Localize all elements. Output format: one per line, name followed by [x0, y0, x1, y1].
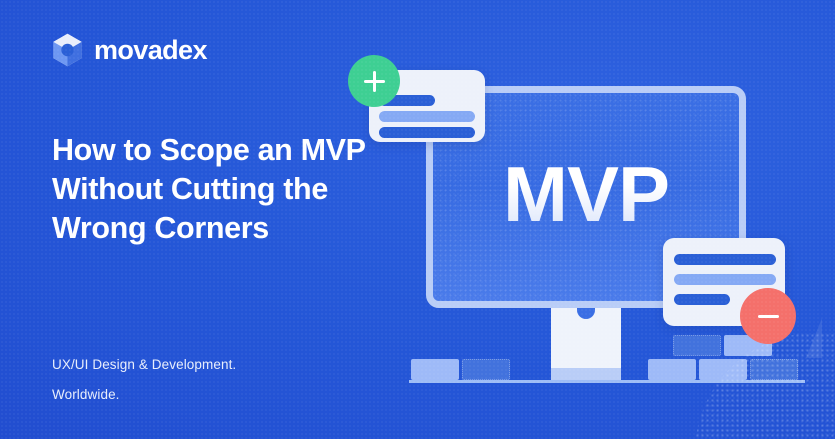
add-badge: [348, 55, 400, 107]
brand-logo[interactable]: movadex: [52, 33, 207, 67]
card-bar: [674, 274, 776, 285]
brick: [462, 359, 510, 380]
brick: [673, 335, 721, 356]
tagline-line-2: Worldwide.: [52, 380, 236, 410]
brick: [648, 359, 696, 380]
page-title: How to Scope an MVP Without Cutting the …: [52, 131, 382, 248]
card-bar: [674, 294, 730, 305]
banner-canvas: MVP: [0, 0, 835, 439]
plus-icon: [364, 71, 385, 92]
tagline-line-1: UX/UI Design & Development.: [52, 350, 236, 380]
remove-badge: [740, 288, 796, 344]
minus-icon: [758, 306, 779, 327]
brand-name: movadex: [94, 37, 207, 64]
card-bar: [379, 127, 475, 138]
monitor-screen-text: MVP: [433, 155, 739, 233]
hexagon-cube-icon: [52, 33, 83, 67]
card-bar: [674, 254, 776, 265]
brick: [411, 359, 459, 380]
card-bar: [379, 111, 475, 122]
tagline: UX/UI Design & Development. Worldwide.: [52, 350, 236, 410]
monitor-stand: [551, 306, 621, 381]
